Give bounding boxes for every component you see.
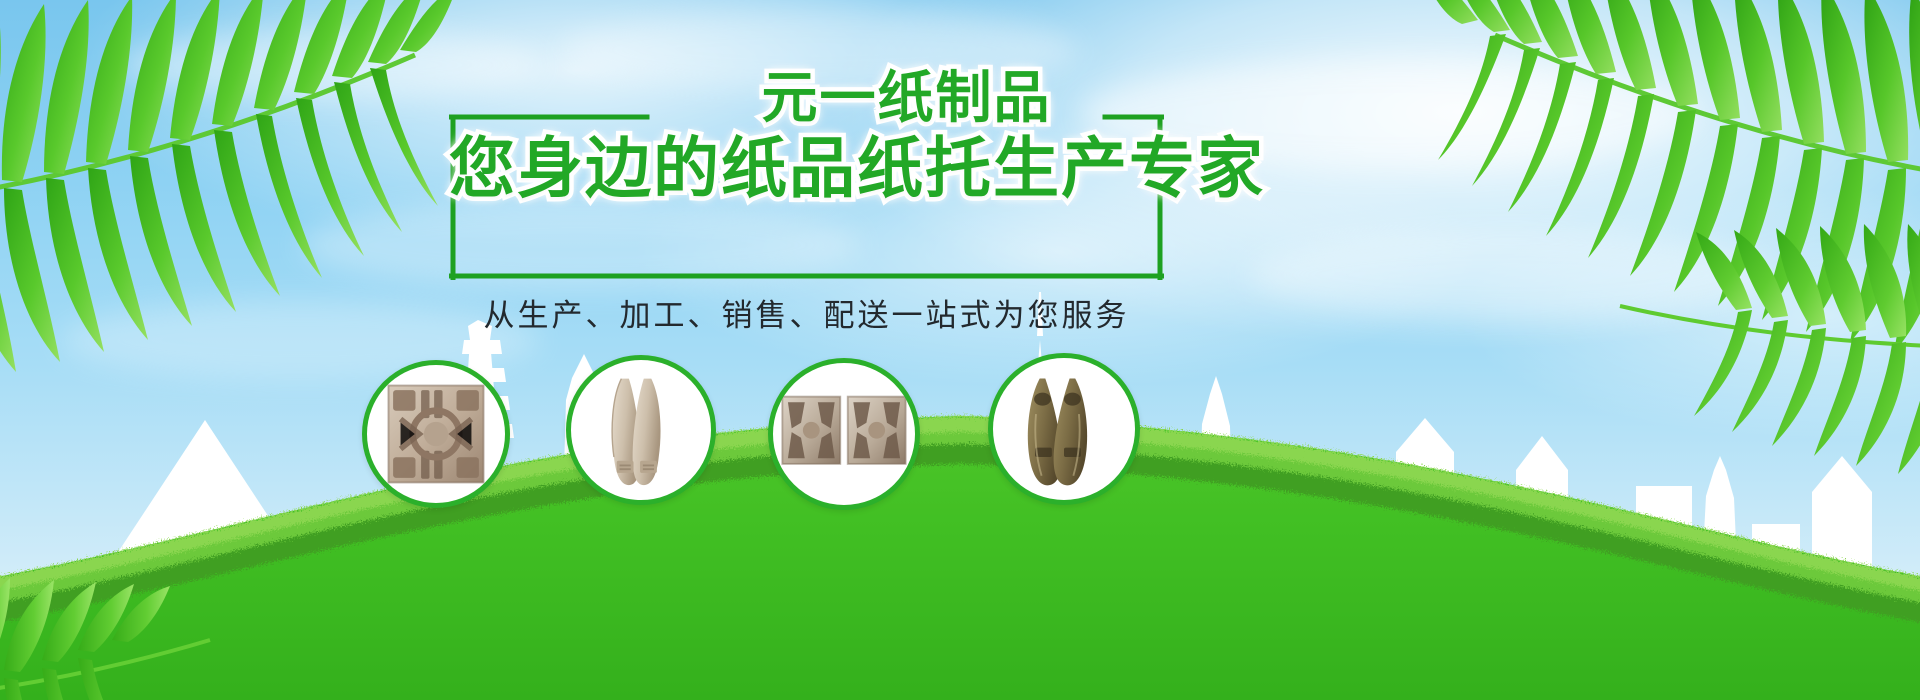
headline-block: 元一纸制品 您身边的纸品纸托生产专家 <box>449 95 1164 280</box>
product-circle-molded-pulp-corner-pair[interactable] <box>768 358 920 510</box>
palm-frond-icon <box>0 0 510 390</box>
molded-pulp-dark-shoe-forms-icon <box>993 358 1135 500</box>
subtitle-text: 从生产、加工、销售、配送一站式为您服务 <box>449 290 1164 335</box>
product-circle-molded-pulp-dark-shoe-forms[interactable] <box>988 353 1140 505</box>
palm-frond-icon <box>1570 210 1920 510</box>
headline-text: 您身边的纸品纸托生产专家 <box>449 115 1164 211</box>
molded-pulp-square-tray-icon <box>367 365 505 503</box>
palm-frond-icon <box>0 560 260 700</box>
promo-banner: 元一纸制品 您身边的纸品纸托生产专家 从生产、加工、销售、配送一站式为您服务 <box>0 0 1920 700</box>
molded-pulp-corner-pair-icon <box>773 363 915 505</box>
molded-pulp-shoe-inserts-icon <box>571 360 711 500</box>
product-circle-molded-pulp-square-tray[interactable] <box>362 360 510 508</box>
product-circle-molded-pulp-shoe-inserts[interactable] <box>566 355 716 505</box>
